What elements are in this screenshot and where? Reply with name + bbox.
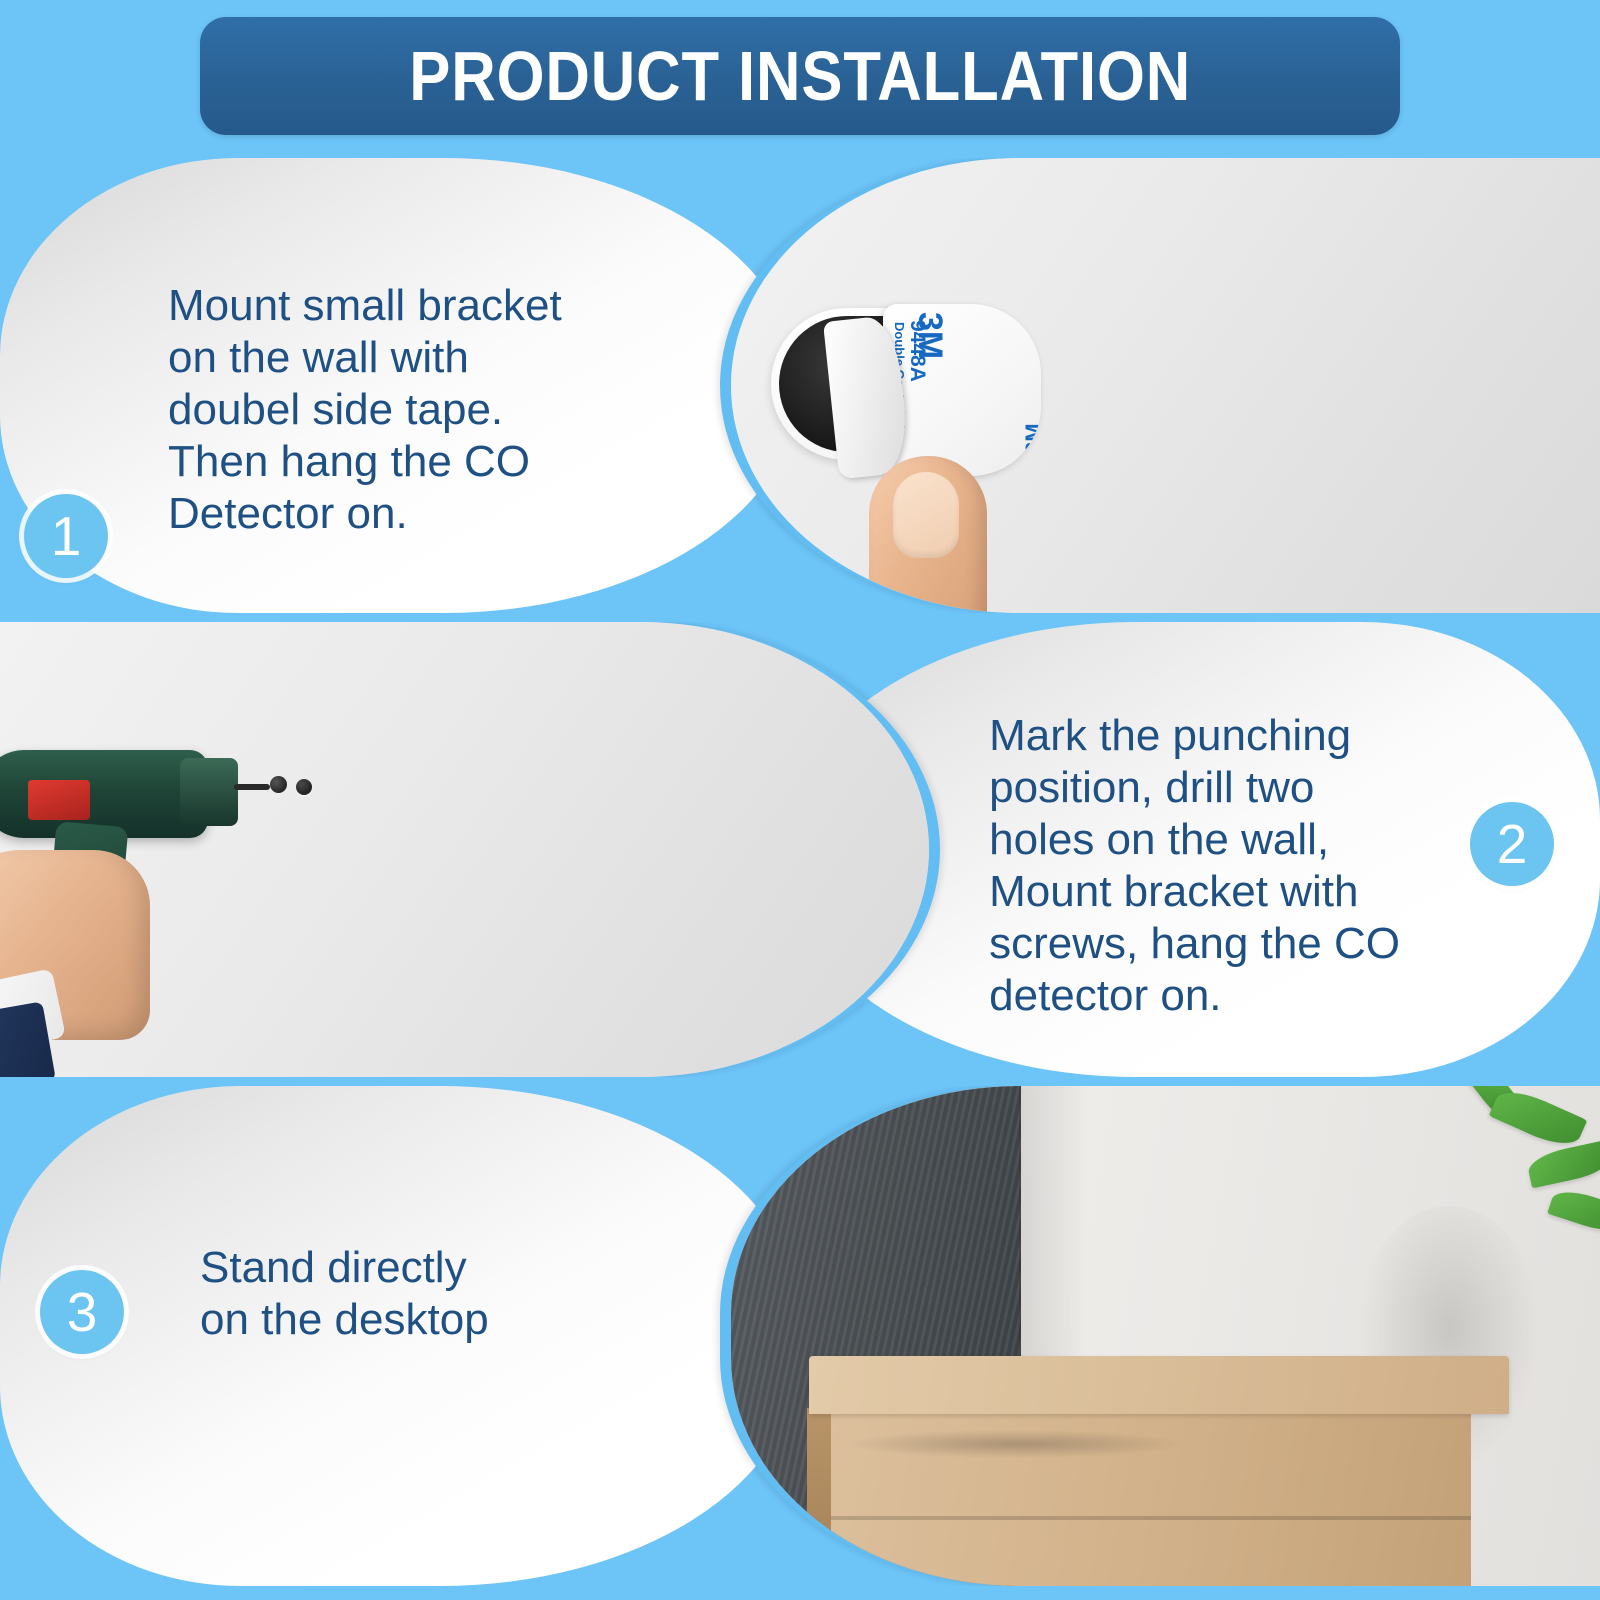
- drilled-hole: [296, 779, 312, 795]
- leaf: [1547, 1185, 1600, 1237]
- tape-illustration: 3M 9448A Double Coated Ti 3M: [771, 308, 1101, 608]
- leaf: [1526, 1140, 1600, 1189]
- step-number-badge-1: 1: [24, 494, 108, 578]
- step-2-instruction: Mark the punching position, drill two ho…: [989, 710, 1400, 1021]
- step-3-instruction: Stand directly on the desktop: [200, 1242, 489, 1346]
- header-banner: PRODUCT INSTALLATION: [200, 17, 1400, 135]
- nightstand-drawer-line: [831, 1516, 1471, 1520]
- page-title: PRODUCT INSTALLATION: [409, 36, 1191, 116]
- tape-pad: 3M 9448A Double Coated Ti 3M: [771, 308, 1021, 460]
- drill-accent: [28, 780, 90, 820]
- step-panel-2: DO NOT PAINT CO 266 PPM Carbon Monoxide …: [0, 622, 1600, 1077]
- step-panel-3: DO NOT PAINT CO 266 PPM Carbon Monoxide …: [0, 1086, 1600, 1586]
- drill-illustration: [0, 732, 380, 1062]
- tape-brand-label-small: 3M: [1021, 423, 1041, 454]
- device-shadow: [851, 1430, 1181, 1458]
- drill-chuck: [180, 758, 238, 826]
- step-3-photo: DO NOT PAINT CO 266 PPM Carbon Monoxide …: [720, 1086, 1600, 1586]
- step-panel-1: 3M 9448A Double Coated Ti 3M: [0, 158, 1600, 613]
- leaf: [1489, 1086, 1588, 1153]
- tape-liner: 3M 9448A Double Coated Ti 3M: [883, 304, 1041, 476]
- drill-bit-tip: [270, 776, 287, 793]
- step-2-photo: DO NOT PAINT CO 266 PPM Carbon Monoxide …: [0, 622, 940, 1077]
- tape-model-label: 9448A: [905, 320, 929, 382]
- nightstand: [809, 1356, 1509, 1586]
- plant-leaves: [1420, 1090, 1600, 1320]
- step-number-badge-2: 2: [1470, 802, 1554, 886]
- step-1-photo: 3M 9448A Double Coated Ti 3M: [720, 158, 1600, 613]
- step-1-instruction: Mount small bracket on the wall with dou…: [168, 280, 562, 540]
- step-number-badge-3: 3: [40, 1270, 124, 1354]
- nightstand-top: [809, 1356, 1509, 1414]
- header-banner-wrap: PRODUCT INSTALLATION: [0, 0, 1600, 152]
- thumb-finger: [869, 456, 987, 613]
